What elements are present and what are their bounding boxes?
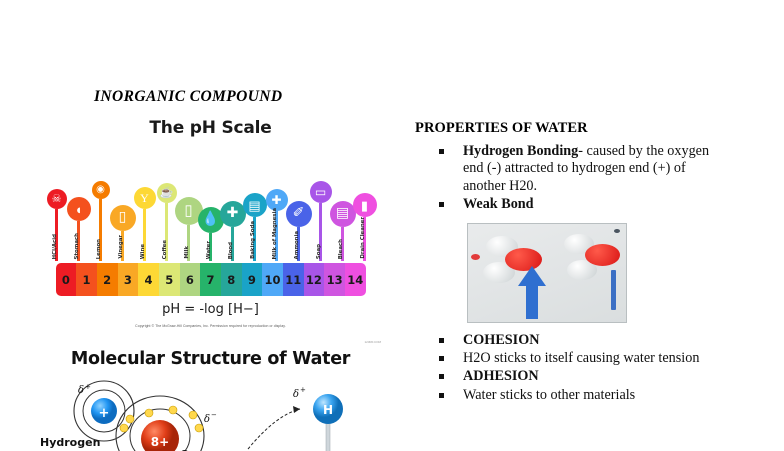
weak-bond-whiteboard-photo <box>467 223 627 323</box>
icon-glyph: 💧 <box>202 213 219 227</box>
ph-scale-title: The pH Scale <box>38 118 383 138</box>
ph-item-label: Blood <box>228 242 234 259</box>
molecular-structure-title: Molecular Structure of Water <box>38 349 383 369</box>
stomach-icon: ◖ <box>67 197 91 221</box>
ph-lollipop-3: ▯Vinegar <box>116 141 130 261</box>
ph-lollipop-8: ✚Blood <box>226 141 240 261</box>
ph-lollipop-13: ▤Bleach <box>336 141 350 261</box>
ph-item-label: Coffee <box>162 240 168 259</box>
weak-bond-image-wrapper <box>467 223 715 323</box>
list-item: Weak Bond <box>463 196 715 213</box>
page-title: INORGANIC COMPOUND <box>94 88 383 106</box>
ph-cell-3: 3 <box>118 263 139 296</box>
ph-cell-8: 8 <box>221 263 242 296</box>
bullet-marker <box>439 149 444 154</box>
svg-text:δ: δ <box>78 385 84 396</box>
icon-glyph: ☠ <box>52 194 62 205</box>
ph-item-label: Milk of Magnesia <box>272 208 278 260</box>
svg-text:Hydrogen: Hydrogen <box>40 436 100 449</box>
properties-list-top: Hydrogen Bonding- caused by the oxygen e… <box>415 143 715 214</box>
icon-glyph: ▤ <box>336 207 349 221</box>
ph-lollipop-4: YWine <box>138 141 152 261</box>
list-item-bold: Hydrogen Bonding <box>463 143 578 159</box>
ph-lollipop-12: ▭Soap <box>314 141 328 261</box>
ph-cell-12: 12 <box>304 263 325 296</box>
ph-scale-icons: ☠HCl/Acid◖Stomach◉Lemon▯VinegarYWine☕Cof… <box>46 141 376 261</box>
ph-scale-figure: The pH Scale ☠HCl/Acid◖Stomach◉Lemon▯Vin… <box>38 118 383 343</box>
ph-item-label: Wine <box>140 244 146 259</box>
ph-item-label: Stomach <box>74 233 80 259</box>
ph-item-label: Soap <box>316 244 322 259</box>
coffee-cup-icon: ☕ <box>157 183 177 203</box>
ph-lollipop-9: ▤Baking Soda <box>248 141 262 261</box>
spray-bottle-icon: ✐ <box>286 201 312 227</box>
ph-cell-0: 0 <box>56 263 77 296</box>
properties-list-bottom: COHESIONH2O sticks to itself causing wat… <box>415 332 715 405</box>
ph-cell-10: 10 <box>262 263 283 296</box>
left-column: INORGANIC COMPOUND The pH Scale ☠HCl/Aci… <box>38 88 383 451</box>
icon-glyph: ▯ <box>184 204 192 219</box>
svg-text:δ: δ <box>204 414 210 425</box>
ph-item-label: Milk <box>184 246 190 259</box>
svg-text:+: + <box>99 406 110 421</box>
blue-marker-bar <box>611 270 616 310</box>
ph-lollipop-14: ▮Drain Cleaner <box>358 141 372 261</box>
watermark-text: 123RF.COM <box>364 340 381 344</box>
lemon-icon: ◉ <box>92 181 110 199</box>
icon-glyph: ☕ <box>160 188 174 199</box>
icon-glyph: ▤ <box>248 199 260 212</box>
list-item-bold: Weak Bond <box>463 196 534 212</box>
ph-lollipop-2: ◉Lemon <box>94 141 108 261</box>
bullet-marker <box>439 374 444 379</box>
bullet-marker <box>439 202 444 207</box>
list-item-bold: ADHESION <box>463 368 539 384</box>
copyright-notice: Copyright © The McGraw-Hill Companies, I… <box>38 324 383 328</box>
ph-item-label: Vinegar <box>118 235 124 259</box>
icon-glyph: ▮ <box>361 199 368 212</box>
document-page: INORGANIC COMPOUND The pH Scale ☠HCl/Aci… <box>0 0 784 441</box>
soap-bar-icon: ▭ <box>310 181 332 203</box>
ph-formula: pH = -log [H−] <box>38 302 383 317</box>
icon-glyph: ✚ <box>271 194 281 206</box>
blood-bag-icon: ✚ <box>220 201 246 227</box>
ph-cell-11: 11 <box>283 263 304 296</box>
water-molecule-diagram: + 8+ δ + δ − Hydrogen Oxygen <box>38 379 383 451</box>
bullet-marker <box>439 356 444 361</box>
small-dot <box>471 254 480 260</box>
ph-lollipop-11: ✐Ammonia <box>292 141 306 261</box>
icon-glyph: ◉ <box>96 185 105 195</box>
bullet-marker <box>439 393 444 398</box>
ph-cell-6: 6 <box>180 263 201 296</box>
list-item: ADHESION <box>463 368 715 385</box>
ph-lollipop-5: ☕Coffee <box>160 141 174 261</box>
list-item-text: Water sticks to other materials <box>463 387 635 403</box>
ph-cell-2: 2 <box>97 263 118 296</box>
icon-glyph: ✚ <box>227 207 239 221</box>
ph-cell-7: 7 <box>200 263 221 296</box>
icon-glyph: ▯ <box>119 211 127 225</box>
baking-soda-icon: ▤ <box>243 193 267 217</box>
icon-glyph: ▭ <box>315 186 326 198</box>
marker-dot <box>614 229 620 233</box>
ph-item-label: Water <box>206 241 212 259</box>
oxygen-ball <box>585 244 620 266</box>
wine-glass-icon: Y <box>134 187 156 209</box>
svg-text:+: + <box>85 383 91 391</box>
bottle-icon: ▯ <box>110 205 136 231</box>
ph-item-label: Lemon <box>96 239 102 259</box>
ph-lollipop-10: ✚Milk of Magnesia <box>270 141 284 261</box>
ph-lollipop-6: ▯Milk <box>182 141 196 261</box>
icon-glyph: ✐ <box>293 207 305 221</box>
up-arrow-icon <box>516 264 548 320</box>
ph-cell-4: 4 <box>138 263 159 296</box>
list-item: H2O sticks to itself causing water tensi… <box>463 350 715 367</box>
right-column: PROPERTIES OF WATER Hydrogen Bonding- ca… <box>415 120 715 405</box>
svg-text:δ: δ <box>293 389 299 400</box>
ph-item-label: Bleach <box>338 239 344 259</box>
svg-text:H: H <box>323 403 333 417</box>
ph-cell-1: 1 <box>76 263 97 296</box>
ph-item-label: HCl/Acid <box>52 234 58 259</box>
list-item: Water sticks to other materials <box>463 387 715 404</box>
svg-text:+: + <box>300 386 306 394</box>
ph-lollipop-0: ☠HCl/Acid <box>50 141 64 261</box>
ph-item-label: Baking Soda <box>250 221 256 259</box>
svg-text:8+: 8+ <box>151 435 169 449</box>
bullet-marker <box>439 338 444 343</box>
molecular-structure-figure: + 8+ δ + δ − Hydrogen Oxygen <box>38 379 383 451</box>
list-item: COHESION <box>463 332 715 349</box>
list-item-text: H2O sticks to itself causing water tensi… <box>463 350 699 366</box>
ph-item-label: Ammonia <box>294 231 300 259</box>
properties-of-water-title: PROPERTIES OF WATER <box>415 120 715 137</box>
skull-flask-icon: ☠ <box>47 189 67 209</box>
svg-text:−: − <box>211 411 217 419</box>
ph-lollipop-1: ◖Stomach <box>72 141 86 261</box>
ph-scale-color-bar: 01234567891011121314 <box>56 263 366 296</box>
icon-glyph: Y <box>140 192 149 204</box>
list-item: Hydrogen Bonding- caused by the oxygen e… <box>463 143 715 195</box>
ph-cell-14: 14 <box>345 263 366 296</box>
ph-lollipop-7: 💧Water <box>204 141 218 261</box>
drain-cleaner-icon: ▮ <box>353 193 377 217</box>
bleach-bottle-icon: ▤ <box>330 201 356 227</box>
ph-cell-5: 5 <box>159 263 180 296</box>
ph-cell-13: 13 <box>324 263 345 296</box>
ph-item-label: Drain Cleaner <box>360 217 366 259</box>
list-item-bold: COHESION <box>463 332 539 348</box>
ph-cell-9: 9 <box>242 263 263 296</box>
icon-glyph: ◖ <box>75 203 83 216</box>
